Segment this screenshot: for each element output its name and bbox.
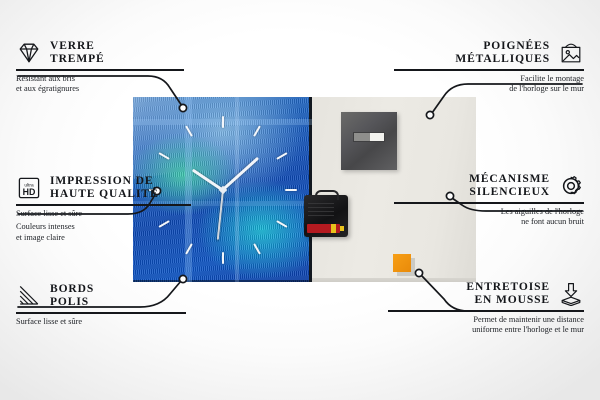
foam-spacer — [393, 254, 411, 272]
callout-title: ENTRETOISE — [388, 281, 550, 294]
infographic-canvas: VERRE TREMPÉ Résistant aux bris et aux é… — [0, 0, 600, 400]
battery — [307, 224, 340, 233]
ultra-hd-bottom-label: HD — [23, 187, 36, 197]
callout-subtitle-a: Couleurs intenses — [16, 222, 191, 233]
callout-subtitle: Permet de maintenir une distance — [388, 315, 584, 326]
gear-icon — [558, 174, 584, 198]
callout-title: VERRE — [50, 40, 105, 53]
callout-title-2: EN MOUSSE — [388, 294, 550, 307]
callout-rule — [16, 312, 186, 314]
metal-hanger-plate — [341, 112, 397, 170]
callout-subtitle: Résistant aux bris — [16, 74, 184, 85]
callout-title: MÉCANISME — [394, 173, 550, 186]
callout-subtitle-2: ne font aucun bruit — [394, 217, 584, 228]
callout-entretoise-en-mousse: ENTRETOISE EN MOUSSE Permet de maintenir… — [388, 281, 584, 336]
mechanism-detail — [308, 203, 334, 217]
callout-subtitle-2: uniforme entre l'horloge et le mur — [388, 325, 584, 336]
callout-subtitle-2: de l'horloge sur le mur — [394, 84, 584, 95]
callout-subtitle: Surface lisse et sûre — [16, 317, 186, 328]
callout-subtitle-b: et image claire — [16, 233, 191, 244]
polished-edge-icon — [16, 284, 42, 308]
callout-title-2: SILENCIEUX — [394, 186, 550, 199]
callout-title-2: MÉTALLIQUES — [394, 53, 550, 66]
callout-bords-polis: BORDS POLIS Surface lisse et sûre — [16, 283, 186, 327]
callout-subtitle: Surface lisse et sûre — [16, 209, 191, 220]
callout-mecanisme-silencieux: MÉCANISME SILENCIEUX Les aiguilles de l'… — [394, 173, 584, 228]
ultra-hd-icon: ultra HD — [16, 176, 42, 200]
callout-title: BORDS — [50, 283, 94, 296]
callout-rule — [394, 202, 584, 204]
callout-subtitle: Facilite le montage — [394, 74, 584, 85]
diamond-icon — [16, 41, 42, 65]
callout-subtitle-2: et aux égratignures — [16, 84, 184, 95]
callout-title-2: TREMPÉ — [50, 53, 105, 66]
callout-rule — [16, 204, 191, 206]
callout-rule — [16, 69, 184, 71]
mechanism-hook — [315, 190, 339, 200]
arrow-down-onto-layer-icon — [558, 282, 584, 306]
callout-poignees-metalliques: POIGNÉES MÉTALLIQUES Facilite le montage… — [394, 40, 584, 95]
callout-title: IMPRESSION DE — [50, 175, 159, 188]
callout-title-2: HAUTE QUALITÉ — [50, 188, 159, 201]
callout-rule — [388, 310, 584, 312]
picture-frame-hanger-icon — [558, 41, 584, 65]
callout-rule — [394, 69, 584, 71]
clock-mechanism — [304, 195, 348, 237]
hanger-slot — [353, 132, 385, 142]
callout-subtitle: Les aiguilles de l'horloge — [394, 207, 584, 218]
callout-verre-trempe: VERRE TREMPÉ Résistant aux bris et aux é… — [16, 40, 184, 95]
callout-impression-haute-qualite: ultra HD IMPRESSION DE HAUTE QUALITÉ Sur… — [16, 175, 191, 243]
callout-title: POIGNÉES — [394, 40, 550, 53]
callout-title-2: POLIS — [50, 296, 94, 309]
